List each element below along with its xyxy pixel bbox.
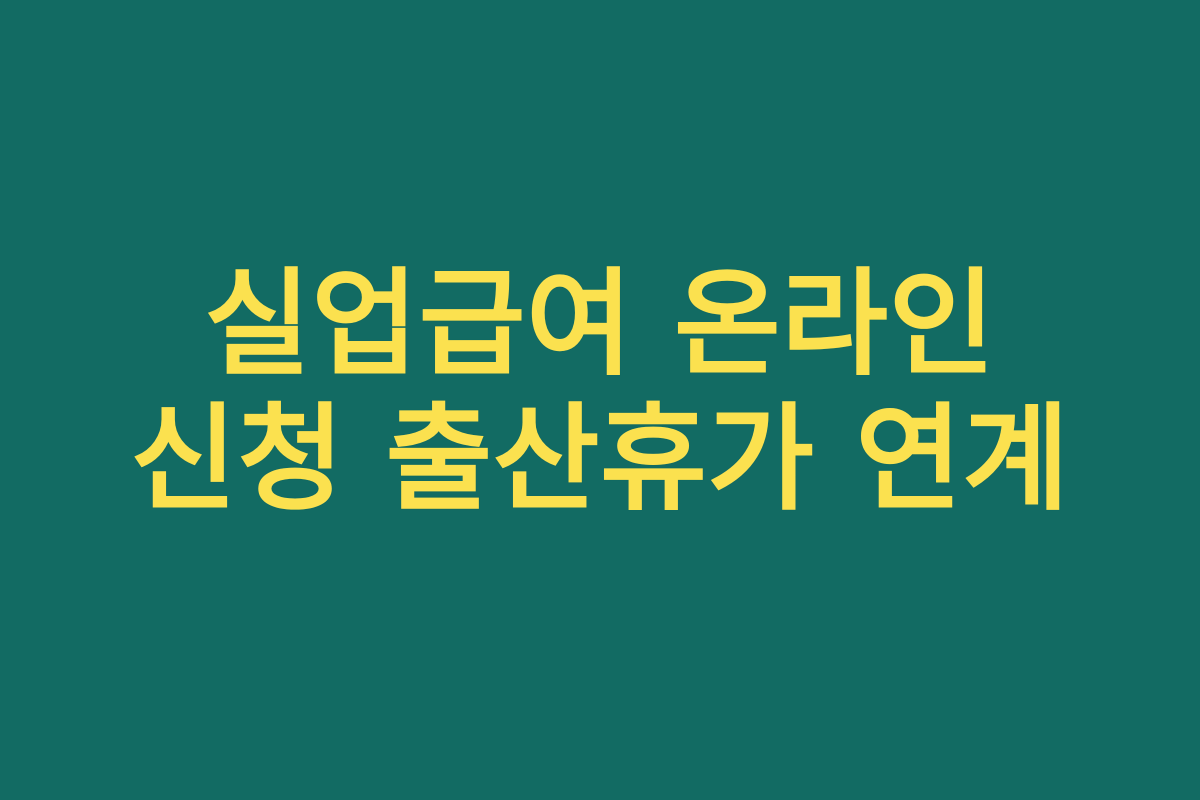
page-title: 실업급여 온라인 신청 출산휴가 연계	[80, 257, 1120, 527]
headline-block: 실업급여 온라인 신청 출산휴가 연계	[80, 257, 1120, 527]
title-thumbnail-card: 실업급여 온라인 신청 출산휴가 연계	[0, 0, 1200, 800]
